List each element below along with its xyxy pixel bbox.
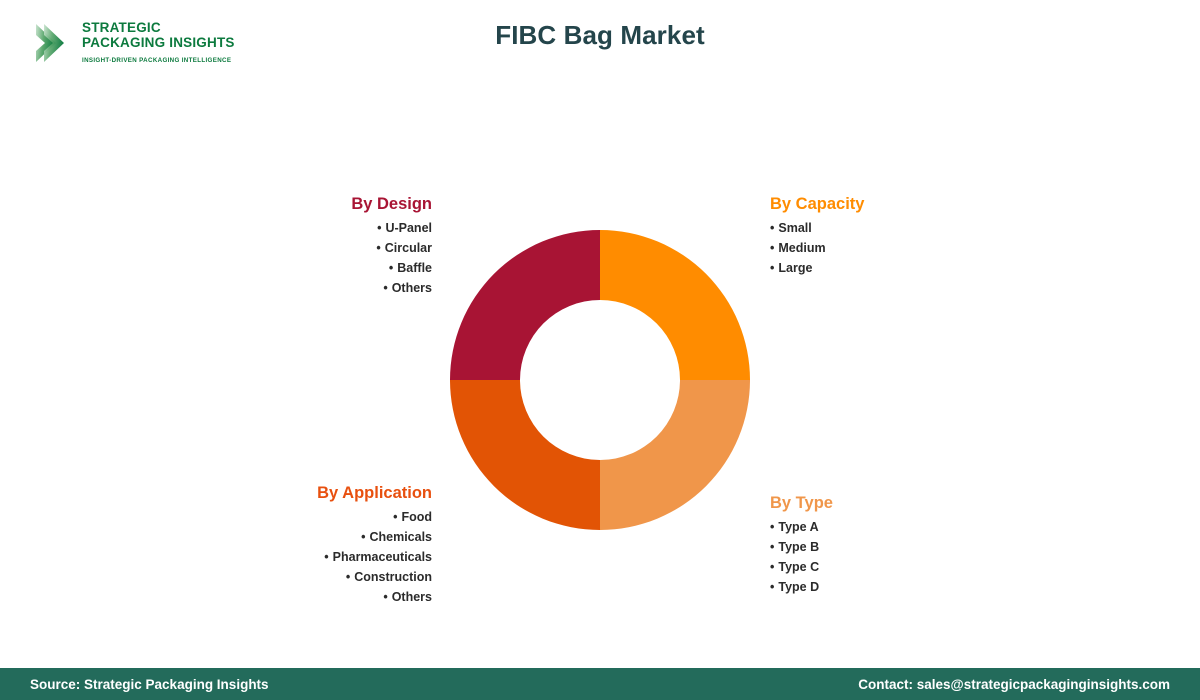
list-item: •U-Panel: [170, 218, 432, 238]
list-item-label: Pharmaceuticals: [333, 550, 432, 564]
list-item: •Type D: [770, 577, 1050, 597]
segment-list-capacity: •Small •Medium •Large: [770, 218, 1050, 278]
footer-source-text: Source: Strategic Packaging Insights: [30, 677, 269, 692]
bullet-icon: •: [376, 238, 380, 258]
list-item-label: Food: [401, 510, 432, 524]
bullet-icon: •: [346, 567, 350, 587]
list-item-label: Construction: [354, 570, 432, 584]
list-item: •Construction: [140, 567, 432, 587]
footer-contact-text: Contact: sales@strategicpackaginginsight…: [858, 677, 1170, 692]
list-item-label: Medium: [778, 241, 825, 255]
bullet-icon: •: [383, 278, 387, 298]
page-title: FIBC Bag Market: [0, 20, 1200, 51]
bullet-icon: •: [383, 587, 387, 607]
bullet-icon: •: [324, 547, 328, 567]
donut-slice-capacity: [600, 230, 750, 380]
list-item: •Large: [770, 258, 1050, 278]
bullet-icon: •: [770, 218, 774, 238]
list-item-label: Chemicals: [369, 530, 432, 544]
bullet-icon: •: [770, 537, 774, 557]
footer-bar: Source: Strategic Packaging Insights Con…: [0, 668, 1200, 700]
list-item-label: Type A: [778, 520, 818, 534]
list-item: •Circular: [170, 238, 432, 258]
segment-heading-type: By Type: [770, 493, 1050, 513]
list-item-label: Others: [392, 281, 432, 295]
bullet-icon: •: [377, 218, 381, 238]
bullet-icon: •: [770, 517, 774, 537]
donut-slice-type: [600, 380, 750, 530]
bullet-icon: •: [389, 258, 393, 278]
list-item: •Type A: [770, 517, 1050, 537]
segment-list-application: •Food •Chemicals •Pharmaceuticals •Const…: [140, 507, 432, 607]
list-item: •Food: [140, 507, 432, 527]
segment-list-type: •Type A •Type B •Type C •Type D: [770, 517, 1050, 597]
segment-heading-capacity: By Capacity: [770, 194, 1050, 214]
donut-slice-application: [450, 380, 600, 530]
list-item: •Small: [770, 218, 1050, 238]
list-item-label: Type D: [778, 580, 819, 594]
donut-slice-design: [450, 230, 600, 380]
list-item-label: Baffle: [397, 261, 432, 275]
list-item-label: Type B: [778, 540, 819, 554]
segment-heading-design: By Design: [170, 194, 432, 214]
list-item-label: Circular: [385, 241, 432, 255]
list-item: •Type C: [770, 557, 1050, 577]
list-item: •Pharmaceuticals: [140, 547, 432, 567]
list-item: •Baffle: [170, 258, 432, 278]
segment-group-capacity: By Capacity •Small •Medium •Large: [770, 194, 1050, 278]
segment-heading-application: By Application: [140, 483, 432, 503]
bullet-icon: •: [770, 258, 774, 278]
list-item-label: Type C: [778, 560, 819, 574]
list-item: •Others: [170, 278, 432, 298]
list-item-label: Others: [392, 590, 432, 604]
list-item-label: U-Panel: [385, 221, 432, 235]
segment-group-application: By Application •Food •Chemicals •Pharmac…: [140, 483, 432, 607]
list-item: •Chemicals: [140, 527, 432, 547]
list-item: •Type B: [770, 537, 1050, 557]
bullet-icon: •: [393, 507, 397, 527]
bullet-icon: •: [361, 527, 365, 547]
list-item-label: Large: [778, 261, 812, 275]
brand-tagline: INSIGHT-DRIVEN PACKAGING INTELLIGENCE: [82, 57, 235, 64]
segment-group-type: By Type •Type A •Type B •Type C •Type D: [770, 493, 1050, 597]
list-item: •Others: [140, 587, 432, 607]
infographic-page: STRATEGIC PACKAGING INSIGHTS INSIGHT-DRI…: [0, 0, 1200, 700]
bullet-icon: •: [770, 238, 774, 258]
segment-group-design: By Design •U-Panel •Circular •Baffle •Ot…: [170, 194, 432, 298]
bullet-icon: •: [770, 577, 774, 597]
list-item: •Medium: [770, 238, 1050, 258]
list-item-label: Small: [778, 221, 811, 235]
donut-chart: [450, 230, 750, 530]
segment-list-design: •U-Panel •Circular •Baffle •Others: [170, 218, 432, 298]
bullet-icon: •: [770, 557, 774, 577]
